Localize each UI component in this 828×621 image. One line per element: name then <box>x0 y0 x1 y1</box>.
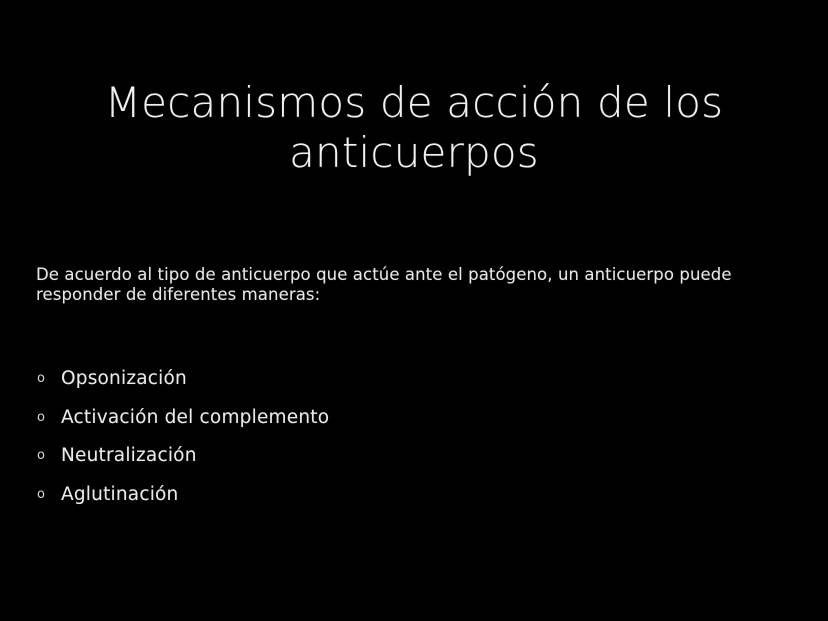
list-item: o Opsonización <box>36 366 736 405</box>
slide-title: Mecanismos de acción de los anticuerpos <box>60 78 768 178</box>
presentation-slide: Mecanismos de acción de los anticuerpos … <box>0 0 828 621</box>
intro-paragraph: De acuerdo al tipo de anticuerpo que act… <box>36 265 794 305</box>
list-item-label: Neutralización <box>61 443 197 469</box>
list-item: o Neutralización <box>36 443 736 482</box>
list-item: o Aglutinación <box>36 482 736 521</box>
bullet-marker-icon: o <box>36 405 61 431</box>
bullet-marker-icon: o <box>36 482 61 508</box>
list-item: o Activación del complemento <box>36 405 736 444</box>
list-item-label: Aglutinación <box>61 482 178 508</box>
bullet-marker-icon: o <box>36 366 61 392</box>
slide-body: De acuerdo al tipo de anticuerpo que act… <box>36 265 794 305</box>
bullet-list: o Opsonización o Activación del compleme… <box>36 366 736 520</box>
list-item-label: Activación del complemento <box>61 405 329 431</box>
bullet-marker-icon: o <box>36 443 61 469</box>
list-item-label: Opsonización <box>61 366 187 392</box>
